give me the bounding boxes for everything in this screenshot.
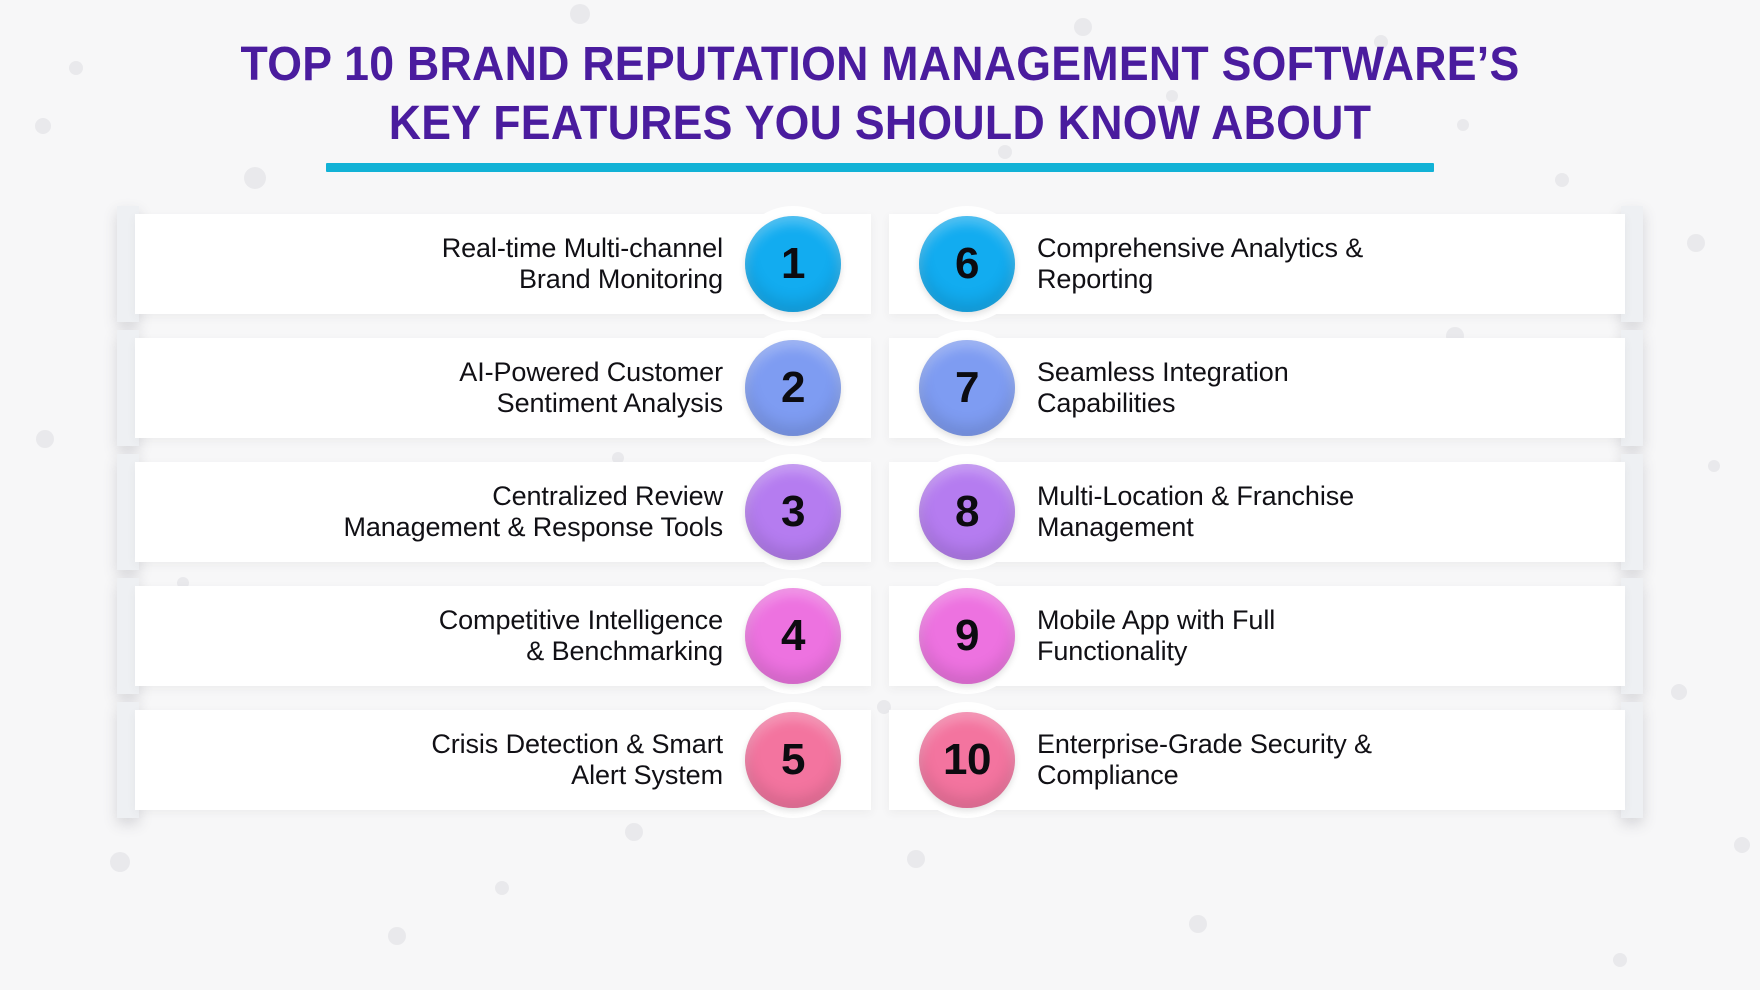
feature-label: Multi-Location & Franchise Management <box>1037 481 1354 544</box>
number-badge[interactable]: 8 <box>919 464 1015 560</box>
feature-rows: Real-time Multi-channel Brand Monitoring… <box>0 214 1760 810</box>
number-badge-ring: 10 <box>909 702 1025 818</box>
feature-item-10[interactable]: Enterprise-Grade Security & Compliance10 <box>889 710 1625 810</box>
number-badge-ring: 3 <box>735 454 851 570</box>
feature-label: Centralized Review Management & Response… <box>343 481 723 544</box>
feature-label: Competitive Intelligence & Benchmarking <box>439 605 723 668</box>
feature-label: AI-Powered Customer Sentiment Analysis <box>459 357 723 420</box>
number-badge-ring: 6 <box>909 206 1025 322</box>
number-badge[interactable]: 1 <box>745 216 841 312</box>
feature-item-1[interactable]: Real-time Multi-channel Brand Monitoring… <box>135 214 871 314</box>
number-badge[interactable]: 4 <box>745 588 841 684</box>
number-badge-ring: 8 <box>909 454 1025 570</box>
feature-label: Mobile App with Full Functionality <box>1037 605 1275 668</box>
page-title: TOP 10 BRAND REPUTATION MANAGEMENT SOFTW… <box>62 36 1699 153</box>
number-badge[interactable]: 10 <box>919 712 1015 808</box>
title-underline-rule <box>326 163 1434 172</box>
infographic-page: TOP 10 BRAND REPUTATION MANAGEMENT SOFTW… <box>0 0 1760 990</box>
feature-row: Crisis Detection & Smart Alert System5En… <box>0 710 1760 810</box>
feature-row: Centralized Review Management & Response… <box>0 462 1760 562</box>
number-badge-ring: 9 <box>909 578 1025 694</box>
number-badge-ring: 7 <box>909 330 1025 446</box>
feature-item-8[interactable]: Multi-Location & Franchise Management8 <box>889 462 1625 562</box>
feature-label: Seamless Integration Capabilities <box>1037 357 1289 420</box>
number-badge-ring: 2 <box>735 330 851 446</box>
number-badge-ring: 5 <box>735 702 851 818</box>
feature-row: AI-Powered Customer Sentiment Analysis2S… <box>0 338 1760 438</box>
feature-item-6[interactable]: Comprehensive Analytics & Reporting6 <box>889 214 1625 314</box>
feature-item-2[interactable]: AI-Powered Customer Sentiment Analysis2 <box>135 338 871 438</box>
number-badge-ring: 4 <box>735 578 851 694</box>
feature-item-4[interactable]: Competitive Intelligence & Benchmarking4 <box>135 586 871 686</box>
feature-label: Enterprise-Grade Security & Compliance <box>1037 729 1372 792</box>
feature-item-7[interactable]: Seamless Integration Capabilities7 <box>889 338 1625 438</box>
badge-number-text: 7 <box>955 366 979 410</box>
badge-number-text: 6 <box>955 242 979 286</box>
badge-number-text: 10 <box>943 738 991 782</box>
badge-number-text: 8 <box>955 490 979 534</box>
feature-row: Real-time Multi-channel Brand Monitoring… <box>0 214 1760 314</box>
badge-number-text: 2 <box>781 366 805 410</box>
feature-label: Real-time Multi-channel Brand Monitoring <box>442 233 723 296</box>
feature-item-9[interactable]: Mobile App with Full Functionality9 <box>889 586 1625 686</box>
badge-number-text: 4 <box>781 614 805 658</box>
number-badge[interactable]: 3 <box>745 464 841 560</box>
feature-item-3[interactable]: Centralized Review Management & Response… <box>135 462 871 562</box>
number-badge[interactable]: 7 <box>919 340 1015 436</box>
number-badge[interactable]: 5 <box>745 712 841 808</box>
badge-number-text: 3 <box>781 490 805 534</box>
badge-number-text: 1 <box>781 242 805 286</box>
number-badge[interactable]: 6 <box>919 216 1015 312</box>
feature-row: Competitive Intelligence & Benchmarking4… <box>0 586 1760 686</box>
number-badge[interactable]: 9 <box>919 588 1015 684</box>
badge-number-text: 5 <box>781 738 805 782</box>
feature-item-5[interactable]: Crisis Detection & Smart Alert System5 <box>135 710 871 810</box>
badge-number-text: 9 <box>955 614 979 658</box>
number-badge-ring: 1 <box>735 206 851 322</box>
feature-label: Crisis Detection & Smart Alert System <box>431 729 723 792</box>
heading-block: TOP 10 BRAND REPUTATION MANAGEMENT SOFTW… <box>0 0 1760 172</box>
feature-label: Comprehensive Analytics & Reporting <box>1037 233 1363 296</box>
number-badge[interactable]: 2 <box>745 340 841 436</box>
